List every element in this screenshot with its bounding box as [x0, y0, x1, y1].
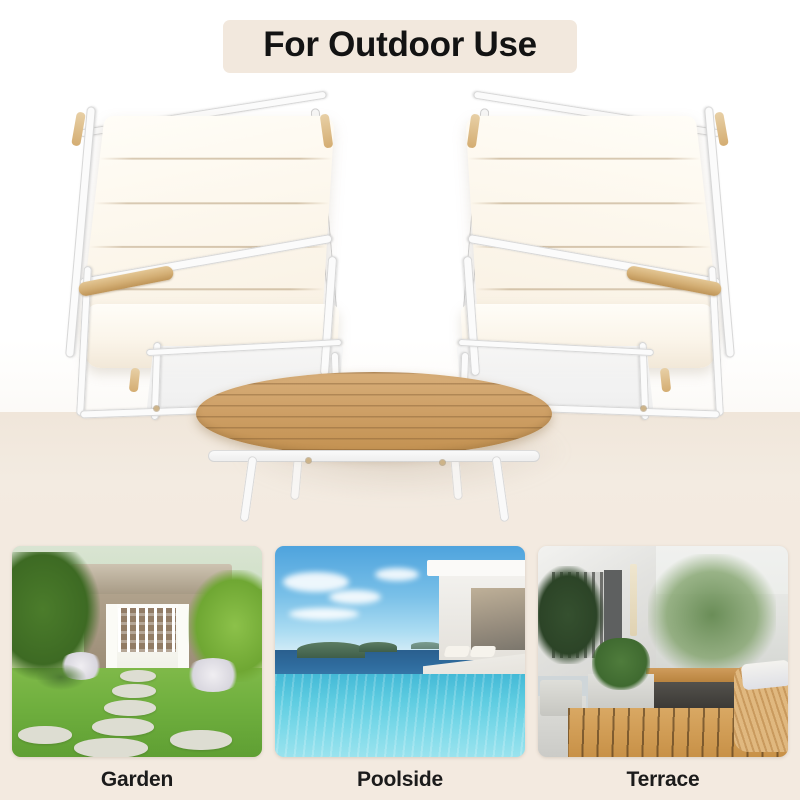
cushion-strap	[660, 368, 671, 393]
poolside-thumbnail-image[interactable]	[275, 546, 525, 757]
cushion-channel	[94, 202, 329, 204]
pool-lounger	[470, 646, 497, 657]
cushion-strap	[129, 368, 140, 393]
hero-product-image	[0, 84, 800, 532]
path-stone	[170, 730, 232, 750]
use-case-poolside[interactable]: Poolside	[275, 546, 525, 800]
frame-bolt	[641, 406, 646, 411]
table-bolt	[306, 458, 311, 463]
path-stone	[120, 670, 156, 682]
island	[359, 642, 397, 652]
use-case-label-terrace: Terrace	[627, 768, 700, 792]
cushion-channel	[100, 158, 333, 160]
terrace-thumbnail-image[interactable]	[538, 546, 788, 757]
use-case-label-poolside: Poolside	[357, 768, 443, 792]
cushion-channel	[468, 158, 701, 160]
product-marketing-page: For Outdoor Use	[0, 0, 800, 800]
table-leg-front-left	[239, 456, 257, 523]
path-stone	[74, 738, 148, 757]
terrace-bamboo	[648, 554, 776, 676]
table-top-teak-slats	[196, 372, 552, 456]
villa-roof-eave	[427, 560, 525, 576]
terrace-chair-cushion	[741, 660, 788, 691]
furniture-scene	[0, 84, 800, 532]
use-case-label-garden: Garden	[101, 768, 173, 792]
table-bolt	[440, 460, 445, 465]
cloud	[283, 572, 349, 592]
use-case-terrace[interactable]: Terrace	[538, 546, 788, 800]
cloud	[375, 568, 419, 581]
garden-trellis	[118, 608, 176, 652]
frame-bolt	[154, 406, 159, 411]
banner-area: For Outdoor Use	[0, 0, 800, 96]
terrace-lamp	[630, 564, 637, 636]
island	[411, 642, 441, 649]
oval-coffee-table	[196, 372, 588, 522]
garden-hydrangea	[184, 658, 242, 692]
path-stone	[112, 684, 156, 698]
villa-glass-facade	[471, 588, 525, 650]
page-title: For Outdoor Use	[263, 27, 537, 64]
cloud	[329, 590, 381, 604]
garden-thumbnail-image[interactable]	[12, 546, 262, 757]
island	[297, 642, 365, 658]
garden-shrub	[36, 664, 86, 690]
terrace-hedge	[592, 638, 650, 690]
path-stone	[18, 726, 72, 744]
cushion-channel	[471, 202, 706, 204]
use-case-garden[interactable]: Garden	[12, 546, 262, 800]
cushion-strap	[714, 111, 729, 146]
use-case-gallery: Garden Pool	[0, 532, 800, 800]
title-banner: For Outdoor Use	[223, 20, 577, 73]
path-stone	[104, 700, 156, 716]
cloud	[289, 608, 359, 620]
pool-water-ripples	[275, 674, 525, 757]
table-leg-front-right	[491, 456, 509, 523]
path-stone	[92, 718, 154, 736]
table-apron	[208, 450, 540, 462]
pool-lounger	[444, 646, 471, 657]
terrace-tree	[538, 566, 604, 664]
